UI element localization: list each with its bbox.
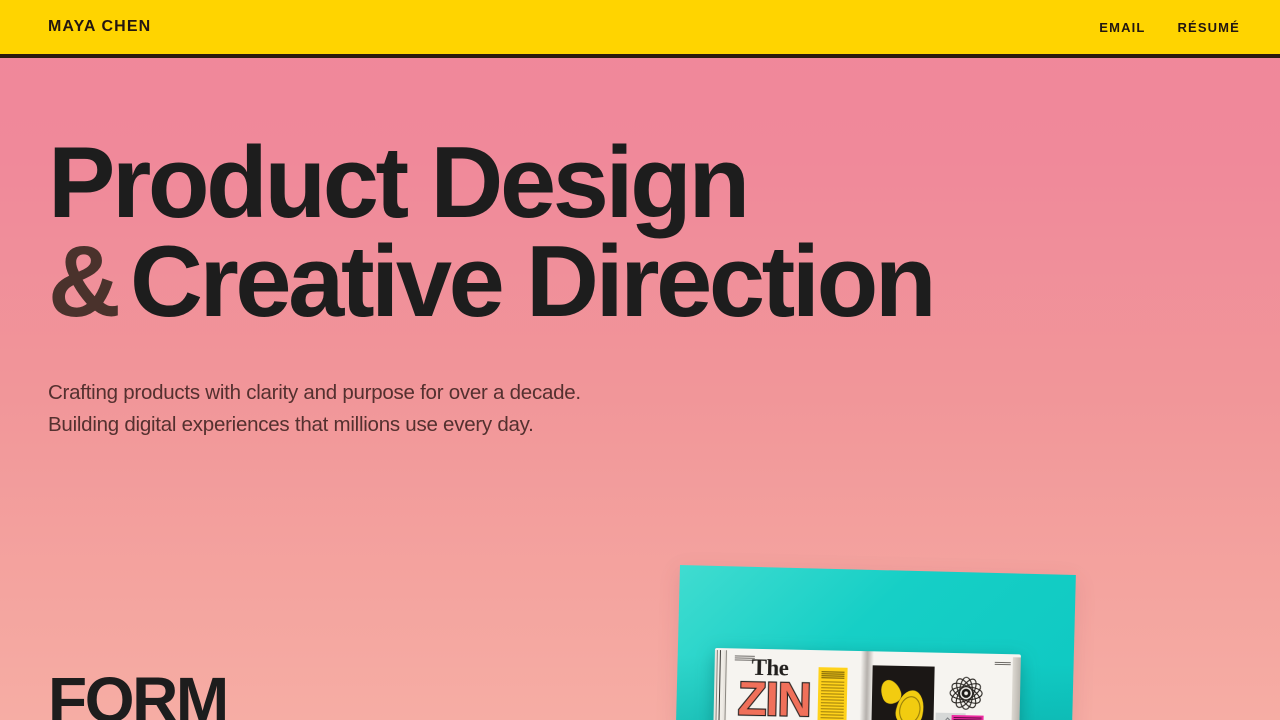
headline-line-2-wrap: &Creative Direction bbox=[48, 235, 1280, 331]
page-title: Product Design &Creative Direction bbox=[48, 136, 1280, 331]
open-magazine: The ZIN bbox=[713, 648, 1021, 720]
magazine-title: ZIN bbox=[737, 674, 811, 720]
nav-link-resume[interactable]: RÉSUMÉ bbox=[1177, 20, 1240, 35]
sidebar-body-lines bbox=[820, 681, 844, 720]
nav-link-email[interactable]: EMAIL bbox=[1099, 20, 1145, 35]
magazine-gutter-shadow bbox=[859, 651, 874, 720]
headline-line-2: Creative Direction bbox=[130, 226, 933, 338]
nav-links: EMAIL RÉSUMÉ bbox=[1099, 20, 1240, 35]
yellow-sidebar-column bbox=[817, 667, 847, 720]
subtitle-line-1: Crafting products with clarity and purpo… bbox=[48, 377, 1280, 409]
black-art-panel bbox=[871, 665, 934, 720]
magazine-left-page: The ZIN bbox=[713, 648, 867, 720]
brand-logo[interactable]: MAYA CHEN bbox=[48, 18, 151, 36]
pink-sticky-note bbox=[951, 715, 983, 720]
magazine-right-page bbox=[865, 651, 1021, 720]
magazine-right-edge bbox=[1011, 657, 1021, 720]
atom-diagram-icon bbox=[946, 673, 987, 714]
page-root: MAYA CHEN EMAIL RÉSUMÉ Product Design &C… bbox=[0, 0, 1280, 720]
sidebar-heading-lines bbox=[821, 671, 844, 678]
section-heading-form: FORM bbox=[48, 668, 227, 720]
subtitle-line-2: Building digital experiences that millio… bbox=[48, 409, 1280, 441]
page-edge-stack bbox=[713, 650, 728, 720]
top-navigation-bar: MAYA CHEN EMAIL RÉSUMÉ bbox=[0, 0, 1280, 58]
page-number-block bbox=[995, 662, 1011, 666]
hero-subtitle: Crafting products with clarity and purpo… bbox=[48, 377, 1280, 442]
hero-section: Product Design &Creative Direction Craft… bbox=[0, 58, 1280, 442]
headline-line-1: Product Design bbox=[48, 127, 747, 239]
hero-photo: The ZIN bbox=[660, 548, 1100, 720]
ampersand-glyph: & bbox=[48, 226, 120, 338]
